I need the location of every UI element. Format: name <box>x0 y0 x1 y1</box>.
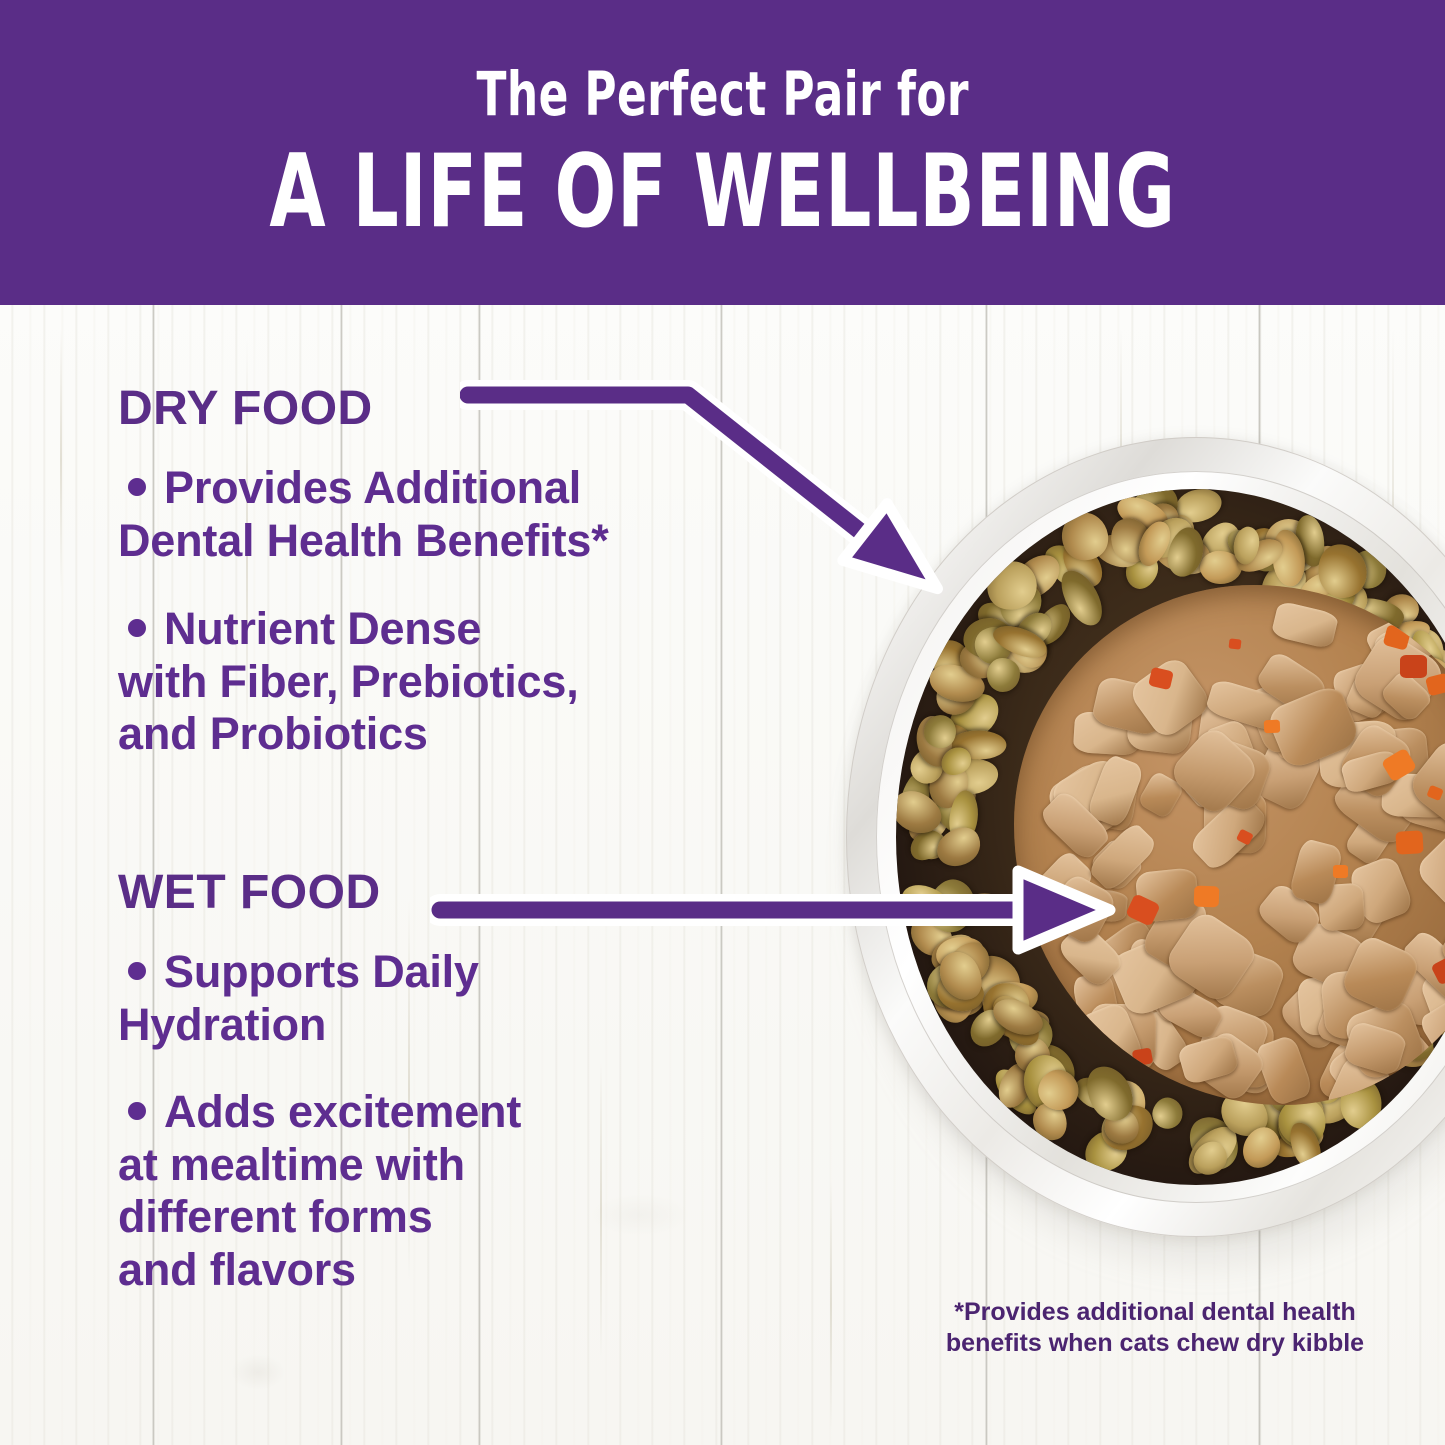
wet-bullet-1-line-1: Supports Daily <box>164 946 479 997</box>
vegetable-speck <box>1263 719 1279 733</box>
wet-food-bullet-2: Adds excitement at mealtime with differe… <box>118 1086 778 1297</box>
footnote-line-2: benefits when cats chew dry kibble <box>946 1329 1364 1357</box>
vegetable-speck <box>1333 865 1348 878</box>
vegetable-speck <box>1132 1048 1153 1067</box>
bullet-dot-icon <box>128 478 146 496</box>
vegetable-speck <box>1400 655 1427 678</box>
wet-bullet-2-line-2: at mealtime with <box>118 1139 465 1190</box>
dry-food-bullet-2: Nutrient Dense with Fiber, Prebiotics, a… <box>118 603 778 761</box>
wet-food-chunk <box>1271 601 1339 650</box>
dry-food-heading: DRY FOOD <box>118 381 373 436</box>
bullet-dot-icon <box>128 619 146 637</box>
bowl-interior <box>896 489 1445 1185</box>
wet-food-bullet-1: Supports Daily Hydration <box>118 946 778 1051</box>
food-bowl-image <box>846 437 1445 1292</box>
wet-bullet-1-line-2: Hydration <box>118 999 326 1050</box>
wet-food-heading: WET FOOD <box>118 865 381 920</box>
wet-bullet-2-line-3: different forms <box>118 1191 433 1242</box>
header-subtitle: The Perfect Pair for <box>476 64 968 125</box>
vegetable-speck <box>1194 886 1219 908</box>
wood-grain <box>60 330 62 590</box>
header-title: A LIFE OF WELLBEING <box>269 141 1176 242</box>
dry-food-bullet-1: Provides Additional Dental Health Benefi… <box>118 462 778 567</box>
vegetable-speck <box>1396 830 1424 854</box>
bullet-dot-icon <box>128 962 146 980</box>
dry-bullet-1-line-2: Dental Health Benefits* <box>118 515 609 566</box>
dry-bullet-2-line-2: with Fiber, Prebiotics, <box>118 656 579 707</box>
wet-bullet-2-line-1: Adds excitement <box>164 1086 521 1137</box>
vegetable-speck <box>1229 639 1242 651</box>
kibble-piece <box>1149 1094 1186 1132</box>
infographic-page: The Perfect Pair for A LIFE OF WELLBEING… <box>0 0 1445 1445</box>
header-banner: The Perfect Pair for A LIFE OF WELLBEING <box>0 0 1445 305</box>
dry-bullet-2-line-3: and Probiotics <box>118 708 428 759</box>
dry-bullet-1-line-1: Provides Additional <box>164 462 581 513</box>
wet-bullet-2-line-4: and flavors <box>118 1244 356 1295</box>
wood-grain <box>830 1180 832 1430</box>
wet-food-chunk <box>1254 1033 1315 1105</box>
dry-bullet-2-line-1: Nutrient Dense <box>164 603 481 654</box>
bullet-dot-icon <box>128 1102 146 1120</box>
kibble-piece <box>987 658 1020 692</box>
footnote-line-1: *Provides additional dental health <box>954 1298 1355 1326</box>
footnote-disclaimer: *Provides additional dental health benef… <box>940 1297 1370 1358</box>
vegetable-speck <box>1425 673 1445 697</box>
